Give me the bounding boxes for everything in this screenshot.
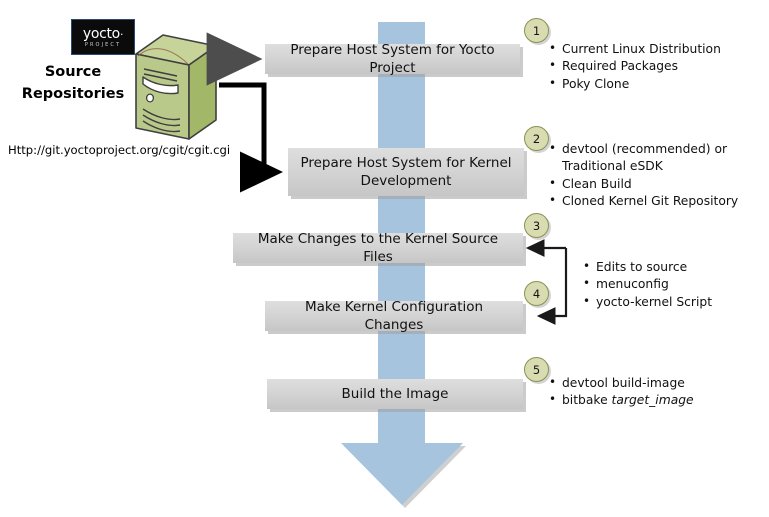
yocto-logo-subtext: PROJECT	[85, 43, 121, 48]
list-item: devtool build-image	[549, 375, 694, 392]
step-5-cmd-2: bitbake	[562, 393, 612, 407]
yocto-logo-text: yocto	[83, 26, 120, 42]
yocto-project-logo: yocto· PROJECT	[71, 19, 135, 55]
step-3-box[interactable]: Make Changes to the Kernel Source Files	[233, 233, 523, 263]
step-2-box[interactable]: Prepare Host System for Kernel Developme…	[288, 148, 524, 196]
list-item: Current Linux Distribution	[549, 41, 721, 58]
step-4-box-label: Make Kernel Configuration Changes	[275, 298, 513, 334]
list-item: Poky Clone	[549, 76, 721, 93]
list-item: yocto-kernel Script	[583, 294, 712, 311]
list-item: Clean Build	[549, 176, 738, 193]
step-3-number: 3	[533, 219, 540, 233]
diagram-canvas: yocto· PROJECT Source Repositories Http:…	[0, 0, 769, 517]
arrow-source-to-step2	[219, 85, 278, 172]
source-repositories-url: Http://git.yoctoproject.org/cgit/cgit.cg…	[8, 143, 230, 157]
step-2-bullet-list: devtool (recommended) or Traditional eSD…	[549, 141, 738, 211]
list-item: devtool (recommended) or	[549, 141, 738, 158]
flow-arrow-head	[341, 443, 463, 505]
list-item: Required Packages	[549, 58, 721, 75]
step-2-number: 2	[533, 132, 540, 146]
list-item: Edits to source	[583, 259, 712, 276]
list-item: Cloned Kernel Git Repository	[549, 193, 738, 210]
yocto-logo-wordmark: yocto·	[83, 27, 123, 41]
source-label-line2: Repositories	[14, 84, 132, 106]
step-1-number-badge: 1	[524, 18, 549, 43]
step-2-box-label-line1: Prepare Host System for Kernel	[300, 154, 511, 172]
step-3-number-badge: 3	[524, 213, 549, 238]
source-repositories-label: Source Repositories	[14, 62, 132, 106]
step-1-box-label: Prepare Host System for Yocto Project	[275, 41, 510, 77]
list-item-continuation: Traditional eSDK	[549, 158, 738, 175]
step-1-number: 1	[533, 24, 540, 38]
server-tower-icon	[133, 32, 219, 142]
step-2-box-label-line2: Development	[361, 172, 452, 190]
step-4-number: 4	[533, 287, 540, 301]
step-5-number: 5	[533, 363, 540, 377]
source-label-line1: Source	[14, 62, 132, 84]
step-5-box[interactable]: Build the Image	[267, 379, 523, 409]
step-5-bullet-list: devtool build-image bitbake target_image	[549, 375, 694, 410]
step-2-number-badge: 2	[524, 126, 549, 151]
step-1-bullet-list: Current Linux Distribution Required Pack…	[549, 41, 721, 93]
step-5-cmd-2-arg: target_image	[612, 393, 694, 407]
step-4-box[interactable]: Make Kernel Configuration Changes	[265, 301, 523, 331]
step-3-box-label: Make Changes to the Kernel Source Files	[243, 230, 513, 266]
yocto-logo-dot: ·	[120, 28, 123, 41]
step-5-box-label: Build the Image	[342, 385, 449, 403]
step-4-number-badge: 4	[524, 281, 549, 306]
list-item: bitbake target_image	[549, 392, 694, 409]
step-5-cmd-1: devtool build-image	[562, 376, 685, 390]
list-item: menuconfig	[583, 276, 712, 293]
step-1-box[interactable]: Prepare Host System for Yocto Project	[265, 44, 520, 74]
step-5-number-badge: 5	[524, 357, 549, 382]
steps-3-4-bullet-list: Edits to source menuconfig yocto-kernel …	[583, 259, 712, 311]
